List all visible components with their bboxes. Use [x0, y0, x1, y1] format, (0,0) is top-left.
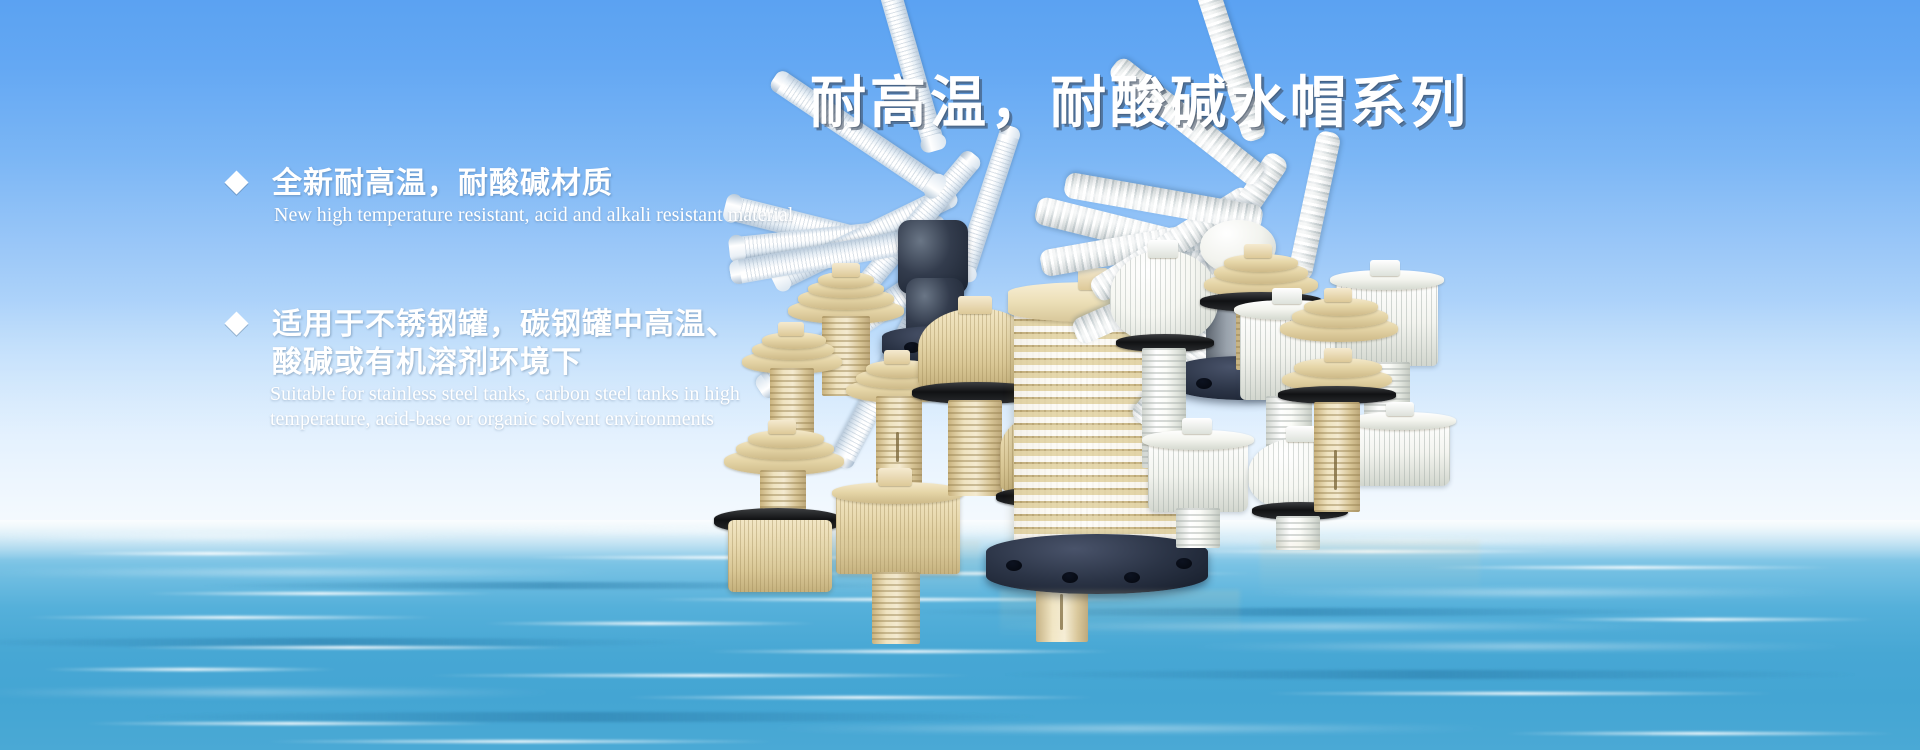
diamond-bullet-icon	[224, 311, 248, 335]
feature-1-en: New high temperature resistant, acid and…	[274, 203, 1048, 228]
product-banner: 耐高温，耐酸碱水帽系列 全新耐高温，耐酸碱材质 New high tempera…	[0, 0, 1920, 750]
page-title: 耐高温，耐酸碱水帽系列	[810, 58, 1430, 139]
flange-bolt-hole	[1124, 572, 1140, 583]
flange-bolt-hole	[1006, 560, 1022, 571]
product-reflection	[1260, 540, 1480, 598]
flange-bolt-hole	[1176, 558, 1192, 569]
flange-bolt-hole	[1196, 378, 1212, 389]
feature-2-en-line1: Suitable for stainless steel tanks, carb…	[270, 382, 1048, 407]
flange-bolt-hole	[1062, 572, 1078, 583]
feature-list: 全新耐高温，耐酸碱材质 New high temperature resista…	[228, 165, 1048, 510]
feature-1-cn: 全新耐高温，耐酸碱材质	[272, 165, 1048, 203]
feature-2-en-line2: temperature, acid-base or organic solven…	[270, 407, 1048, 432]
diamond-bullet-icon	[224, 170, 248, 194]
product-reflection	[760, 540, 980, 600]
feature-item-2: 适用于不锈钢罐，碳钢罐中高温、 酸碱或有机溶剂环境下 Suitable for …	[228, 306, 1048, 432]
feature-2-cn-line1: 适用于不锈钢罐，碳钢罐中高温、	[272, 306, 1048, 344]
feature-2-cn-line2: 酸碱或有机溶剂环境下	[272, 344, 1048, 382]
product-reflection	[1000, 590, 1240, 640]
feature-item-1: 全新耐高温，耐酸碱材质 New high temperature resista…	[228, 165, 1048, 228]
